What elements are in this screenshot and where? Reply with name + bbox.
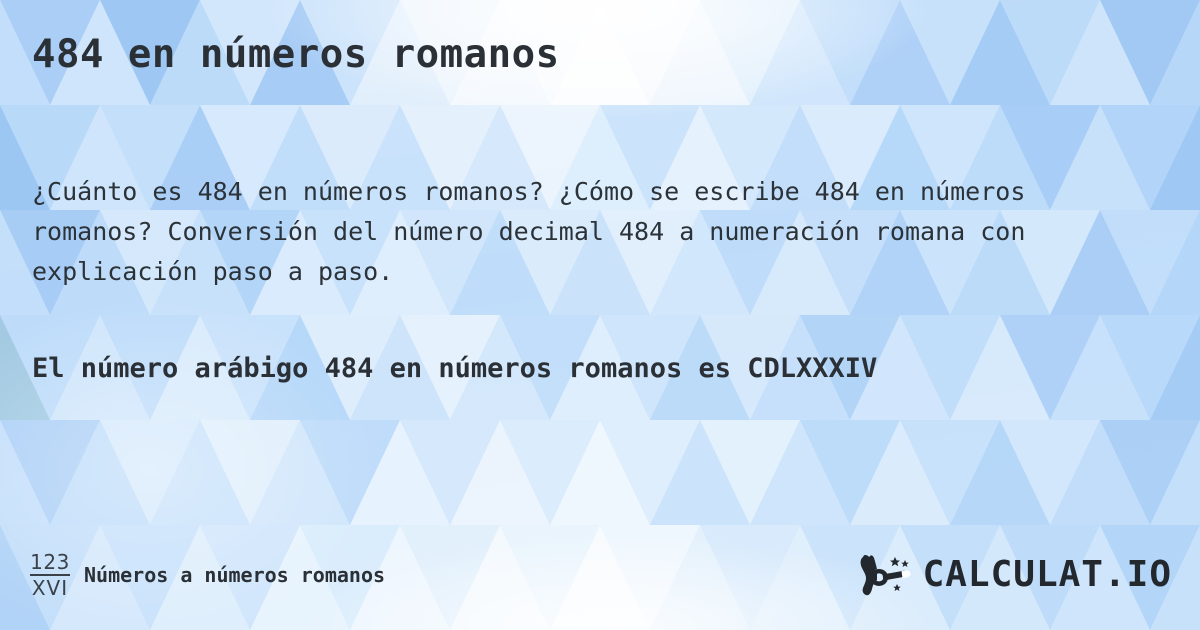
footer-brand[interactable]: 123 XVI Números a números romanos <box>30 546 385 604</box>
fraction-123-xvi-icon: 123 XVI <box>30 552 70 598</box>
fraction-denominator: XVI <box>32 578 68 598</box>
answer-statement: El número arábigo 484 en números romanos… <box>32 345 1112 393</box>
og-image-card: 484 en números romanos ¿Cuánto es 484 en… <box>0 0 1200 630</box>
site-logo[interactable]: CALCULAT.IO <box>857 550 1172 600</box>
magic-wand-hand-icon <box>857 553 917 597</box>
card-content: 484 en números romanos ¿Cuánto es 484 en… <box>0 0 1200 630</box>
description-paragraph: ¿Cuánto es 484 en números romanos? ¿Cómo… <box>32 172 1142 292</box>
site-logo-text: CALCULAT.IO <box>923 557 1172 593</box>
fraction-numerator: 123 <box>30 552 70 573</box>
footer: 123 XVI Números a números romanos <box>0 546 1200 604</box>
footer-category-label: Números a números romanos <box>84 563 385 587</box>
page-title: 484 en números romanos <box>32 32 560 77</box>
